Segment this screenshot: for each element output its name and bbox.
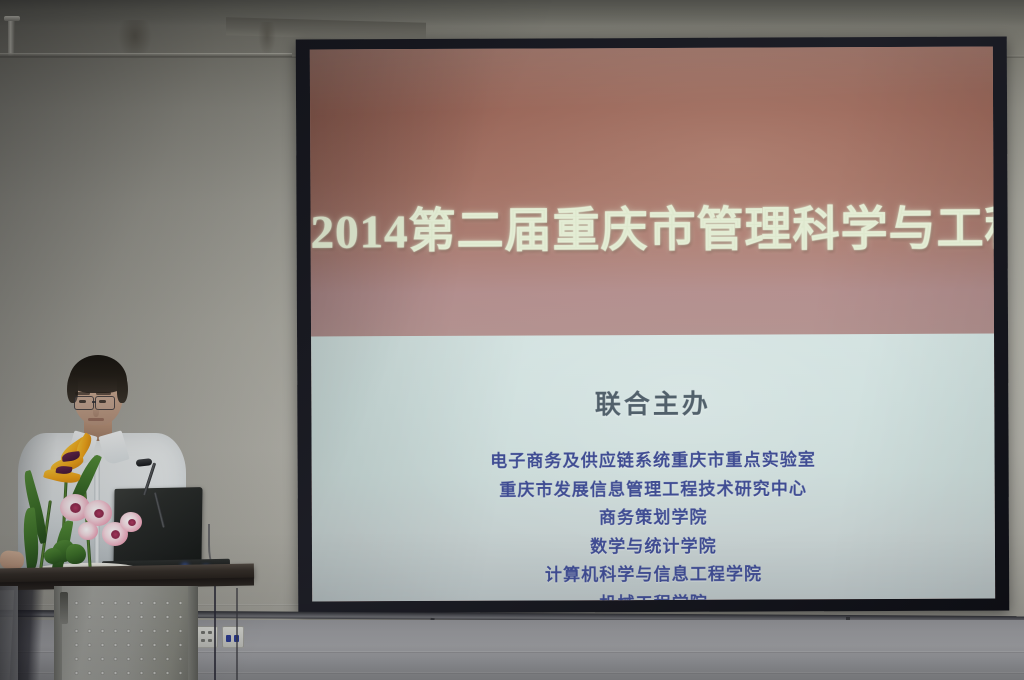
presenter-hair-side: [117, 373, 128, 403]
podium-foot: [0, 586, 18, 680]
organizer-line: 重庆市发展信息管理工程技术研究中心: [312, 474, 995, 505]
presenter-eyebrow: [96, 392, 111, 395]
ceiling-rail-bracket: [8, 18, 15, 56]
podium-perforation-pattern: [70, 596, 182, 680]
projection-screen: 2014第二届重庆市管理科学与工程论坛 联合主办 电子商务及供应链系统重庆市重点…: [296, 36, 1009, 613]
ceiling-shadow: [0, 0, 1024, 26]
podium-latch: [60, 592, 68, 624]
orchid-center: [111, 530, 120, 539]
wall-stain: [258, 22, 276, 56]
organizer-line: 数学与统计学院: [312, 531, 995, 562]
organizer-line: 商务策划学院: [312, 503, 995, 534]
organizer-line: 机械工程学院: [312, 588, 995, 601]
eyeglasses-bridge: [92, 401, 96, 403]
screenshot-stage: 2014第二届重庆市管理科学与工程论坛 联合主办 电子商务及供应链系统重庆市重点…: [0, 0, 1024, 680]
foliage-cluster: [44, 548, 62, 564]
orchid-center: [128, 519, 136, 526]
presenter-eye: [99, 400, 106, 403]
podium-frame-right: [188, 586, 198, 680]
orchid-bloom: [78, 522, 98, 540]
presenter-eye: [79, 400, 86, 403]
ceiling-rail-bracket-cap: [4, 16, 20, 21]
organizer-line: 电子商务及供应链系统重庆市重点实验室: [312, 446, 995, 477]
eyeglasses-lens: [74, 396, 94, 410]
slide-subheading: 联合主办: [311, 383, 994, 423]
organizer-line: 计算机科学与信息工程学院: [312, 560, 995, 591]
slide-title: 2014第二届重庆市管理科学与工程论坛: [310, 190, 993, 262]
presenter-eyebrow: [75, 392, 90, 395]
projection-screen-surface: 2014第二届重庆市管理科学与工程论坛 联合主办 电子商务及供应链系统重庆市重点…: [310, 47, 995, 602]
orchid-center: [94, 509, 104, 518]
foliage-cluster: [66, 544, 86, 564]
slide-organizer-list: 电子商务及供应链系统重庆市重点实验室 重庆市发展信息管理工程技术研究中心 商务策…: [312, 446, 996, 602]
orchid-center: [70, 503, 81, 513]
presenter-nose: [93, 405, 99, 417]
presenter-mouth: [88, 418, 104, 421]
